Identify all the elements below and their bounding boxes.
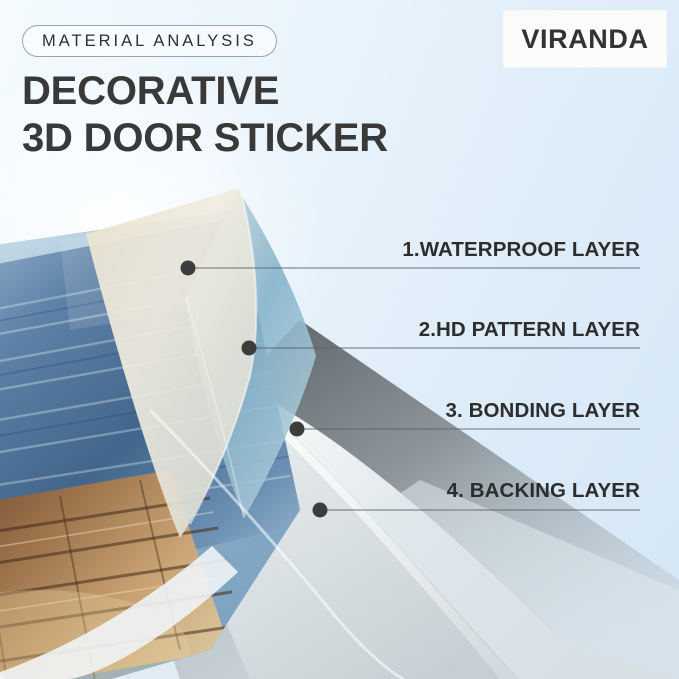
brand-name: VIRANDA bbox=[521, 24, 648, 55]
callout-backing: 4. BACKING LAYER bbox=[310, 479, 640, 508]
callout-label-1: 1.WATERPROOF LAYER bbox=[310, 238, 640, 267]
callout-label-4: 4. BACKING LAYER bbox=[310, 479, 640, 508]
brand-logo: VIRANDA bbox=[504, 11, 666, 67]
callout-hd-pattern: 2.HD PATTERN LAYER bbox=[310, 318, 640, 347]
material-analysis-badge: MATERIAL ANALYSIS bbox=[22, 25, 277, 57]
material-analysis-infographic: 1.WATERPROOF LAYER 2.HD PATTERN LAYER 3.… bbox=[0, 0, 679, 679]
title-line-1: DECORATIVE bbox=[22, 69, 279, 113]
callout-waterproof: 1.WATERPROOF LAYER bbox=[310, 238, 640, 267]
title-line-2: 3D DOOR STICKER bbox=[22, 115, 388, 162]
callout-bonding: 3. BONDING LAYER bbox=[310, 399, 640, 428]
callout-label-2: 2.HD PATTERN LAYER bbox=[310, 318, 640, 347]
page-title: DECORATIVE 3D DOOR STICKER bbox=[22, 68, 388, 162]
callout-label-3: 3. BONDING LAYER bbox=[310, 399, 640, 428]
badge-label: MATERIAL ANALYSIS bbox=[42, 32, 257, 51]
